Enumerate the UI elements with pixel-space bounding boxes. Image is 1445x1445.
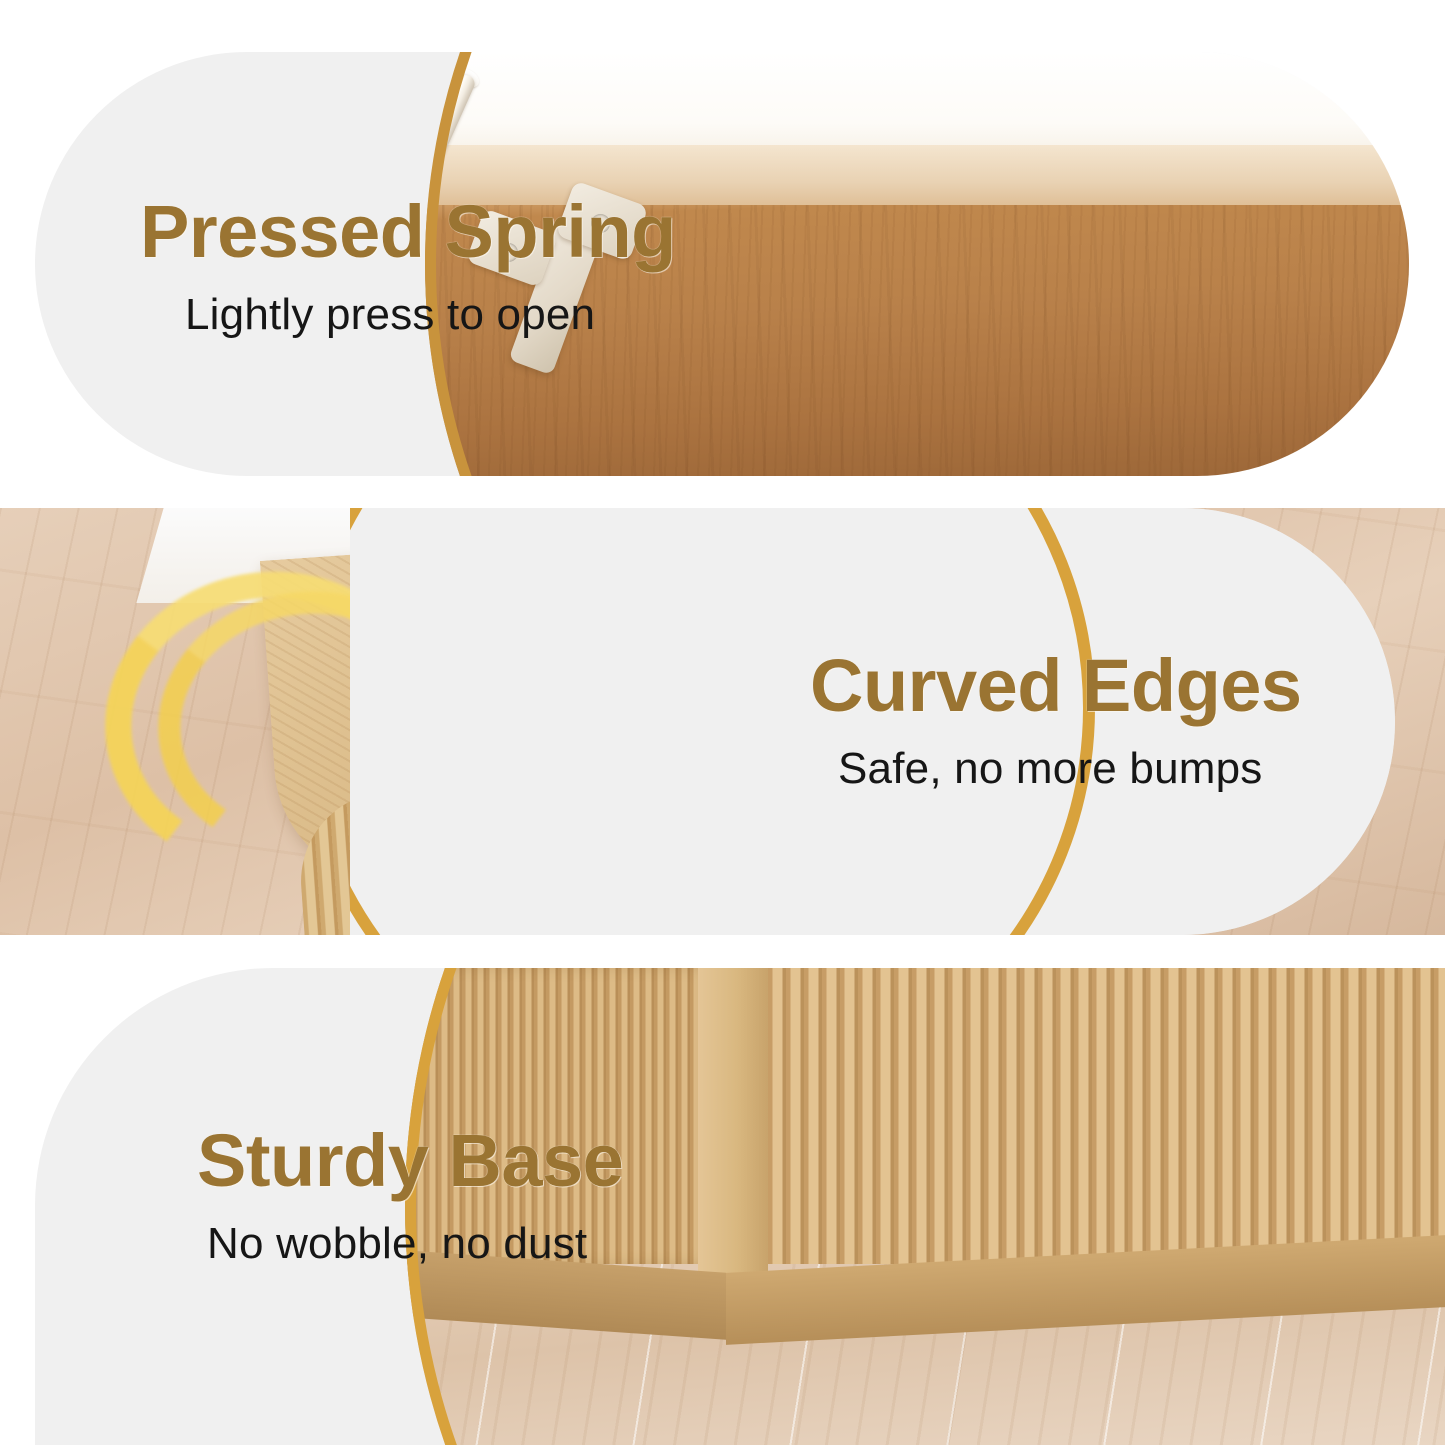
curved-edges-text: Curved Edges Safe, no more bumps <box>810 648 1302 796</box>
sturdy-base-text: Sturdy Base No wobble, no dust <box>197 1123 623 1271</box>
curved-edges-text-panel: Curved Edges Safe, no more bumps <box>350 508 1395 935</box>
cabinet-right-fluted-face <box>768 968 1445 1264</box>
pressed-spring-text: Pressed Spring Lightly press to open <box>140 194 676 342</box>
feature-headline: Curved Edges <box>810 648 1302 723</box>
feature-panel-pressed-spring: Pressed Spring Lightly press to open <box>35 52 1409 476</box>
latch-rod-cap <box>93 154 123 180</box>
latch-push-rod <box>35 162 117 330</box>
feature-subline: No wobble, no dust <box>207 1218 623 1271</box>
feature-subline: Lightly press to open <box>185 289 676 342</box>
infographic-page: Pressed Spring Lightly press to open Cur… <box>0 0 1445 1445</box>
cabinet-corner-post <box>698 968 769 1273</box>
feature-panel-sturdy-base: Sturdy Base No wobble, no dust <box>35 968 1445 1445</box>
feature-headline: Pressed Spring <box>140 194 676 269</box>
feature-headline: Sturdy Base <box>197 1123 623 1198</box>
feature-subline: Safe, no more bumps <box>838 743 1302 796</box>
